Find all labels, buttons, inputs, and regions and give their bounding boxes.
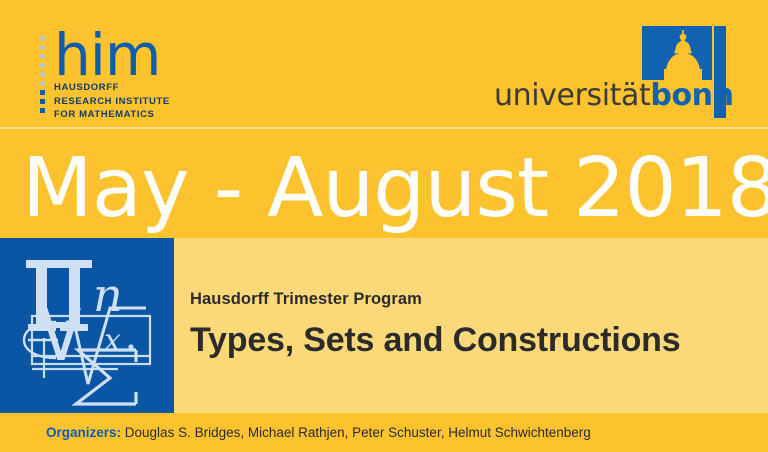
him-subtitle-line-1: HAUSDORFF: [54, 81, 170, 95]
date-range: May - August 2018: [22, 146, 768, 232]
university-bonn-logo: universitätbonn: [494, 26, 726, 118]
organizers-line: Organizers: Douglas S. Bridges, Michael …: [46, 425, 591, 441]
him-subtitle-line-3: FOR MATHEMATICS: [54, 108, 170, 122]
date-band: May - August 2018: [0, 129, 768, 238]
organizers-label: Organizers:: [46, 425, 121, 440]
conference-poster: him HAUSDORFF RESEARCH INSTITUTE FOR MAT…: [0, 0, 768, 452]
program-label: Hausdorff Trimester Program: [190, 290, 422, 309]
math-symbols-logo: n x: [0, 238, 174, 413]
bonn-wordmark: universitätbonn: [494, 80, 734, 112]
organizers-names: Douglas S. Bridges, Michael Rathjen, Pet…: [121, 425, 591, 440]
bonn-wordmark-universitaet: universität: [494, 78, 650, 113]
him-logo-dots-icon: [40, 36, 49, 122]
him-subtitle-line-2: RESEARCH INSTITUTE: [54, 95, 170, 109]
footer-band: Organizers: Douglas S. Bridges, Michael …: [0, 413, 768, 452]
header-band: him HAUSDORFF RESEARCH INSTITUTE FOR MAT…: [0, 0, 768, 128]
him-wordmark: him: [54, 26, 160, 84]
bonn-wordmark-bonn: bonn: [650, 78, 733, 113]
him-subtitle: HAUSDORFF RESEARCH INSTITUTE FOR MATHEMA…: [54, 81, 170, 122]
program-title: Types, Sets and Constructions: [190, 320, 680, 360]
svg-text:x: x: [104, 323, 121, 358]
poppelsdorf-palace-tower-icon: [642, 26, 712, 80]
him-logo: him HAUSDORFF RESEARCH INSTITUTE FOR MAT…: [40, 36, 220, 122]
